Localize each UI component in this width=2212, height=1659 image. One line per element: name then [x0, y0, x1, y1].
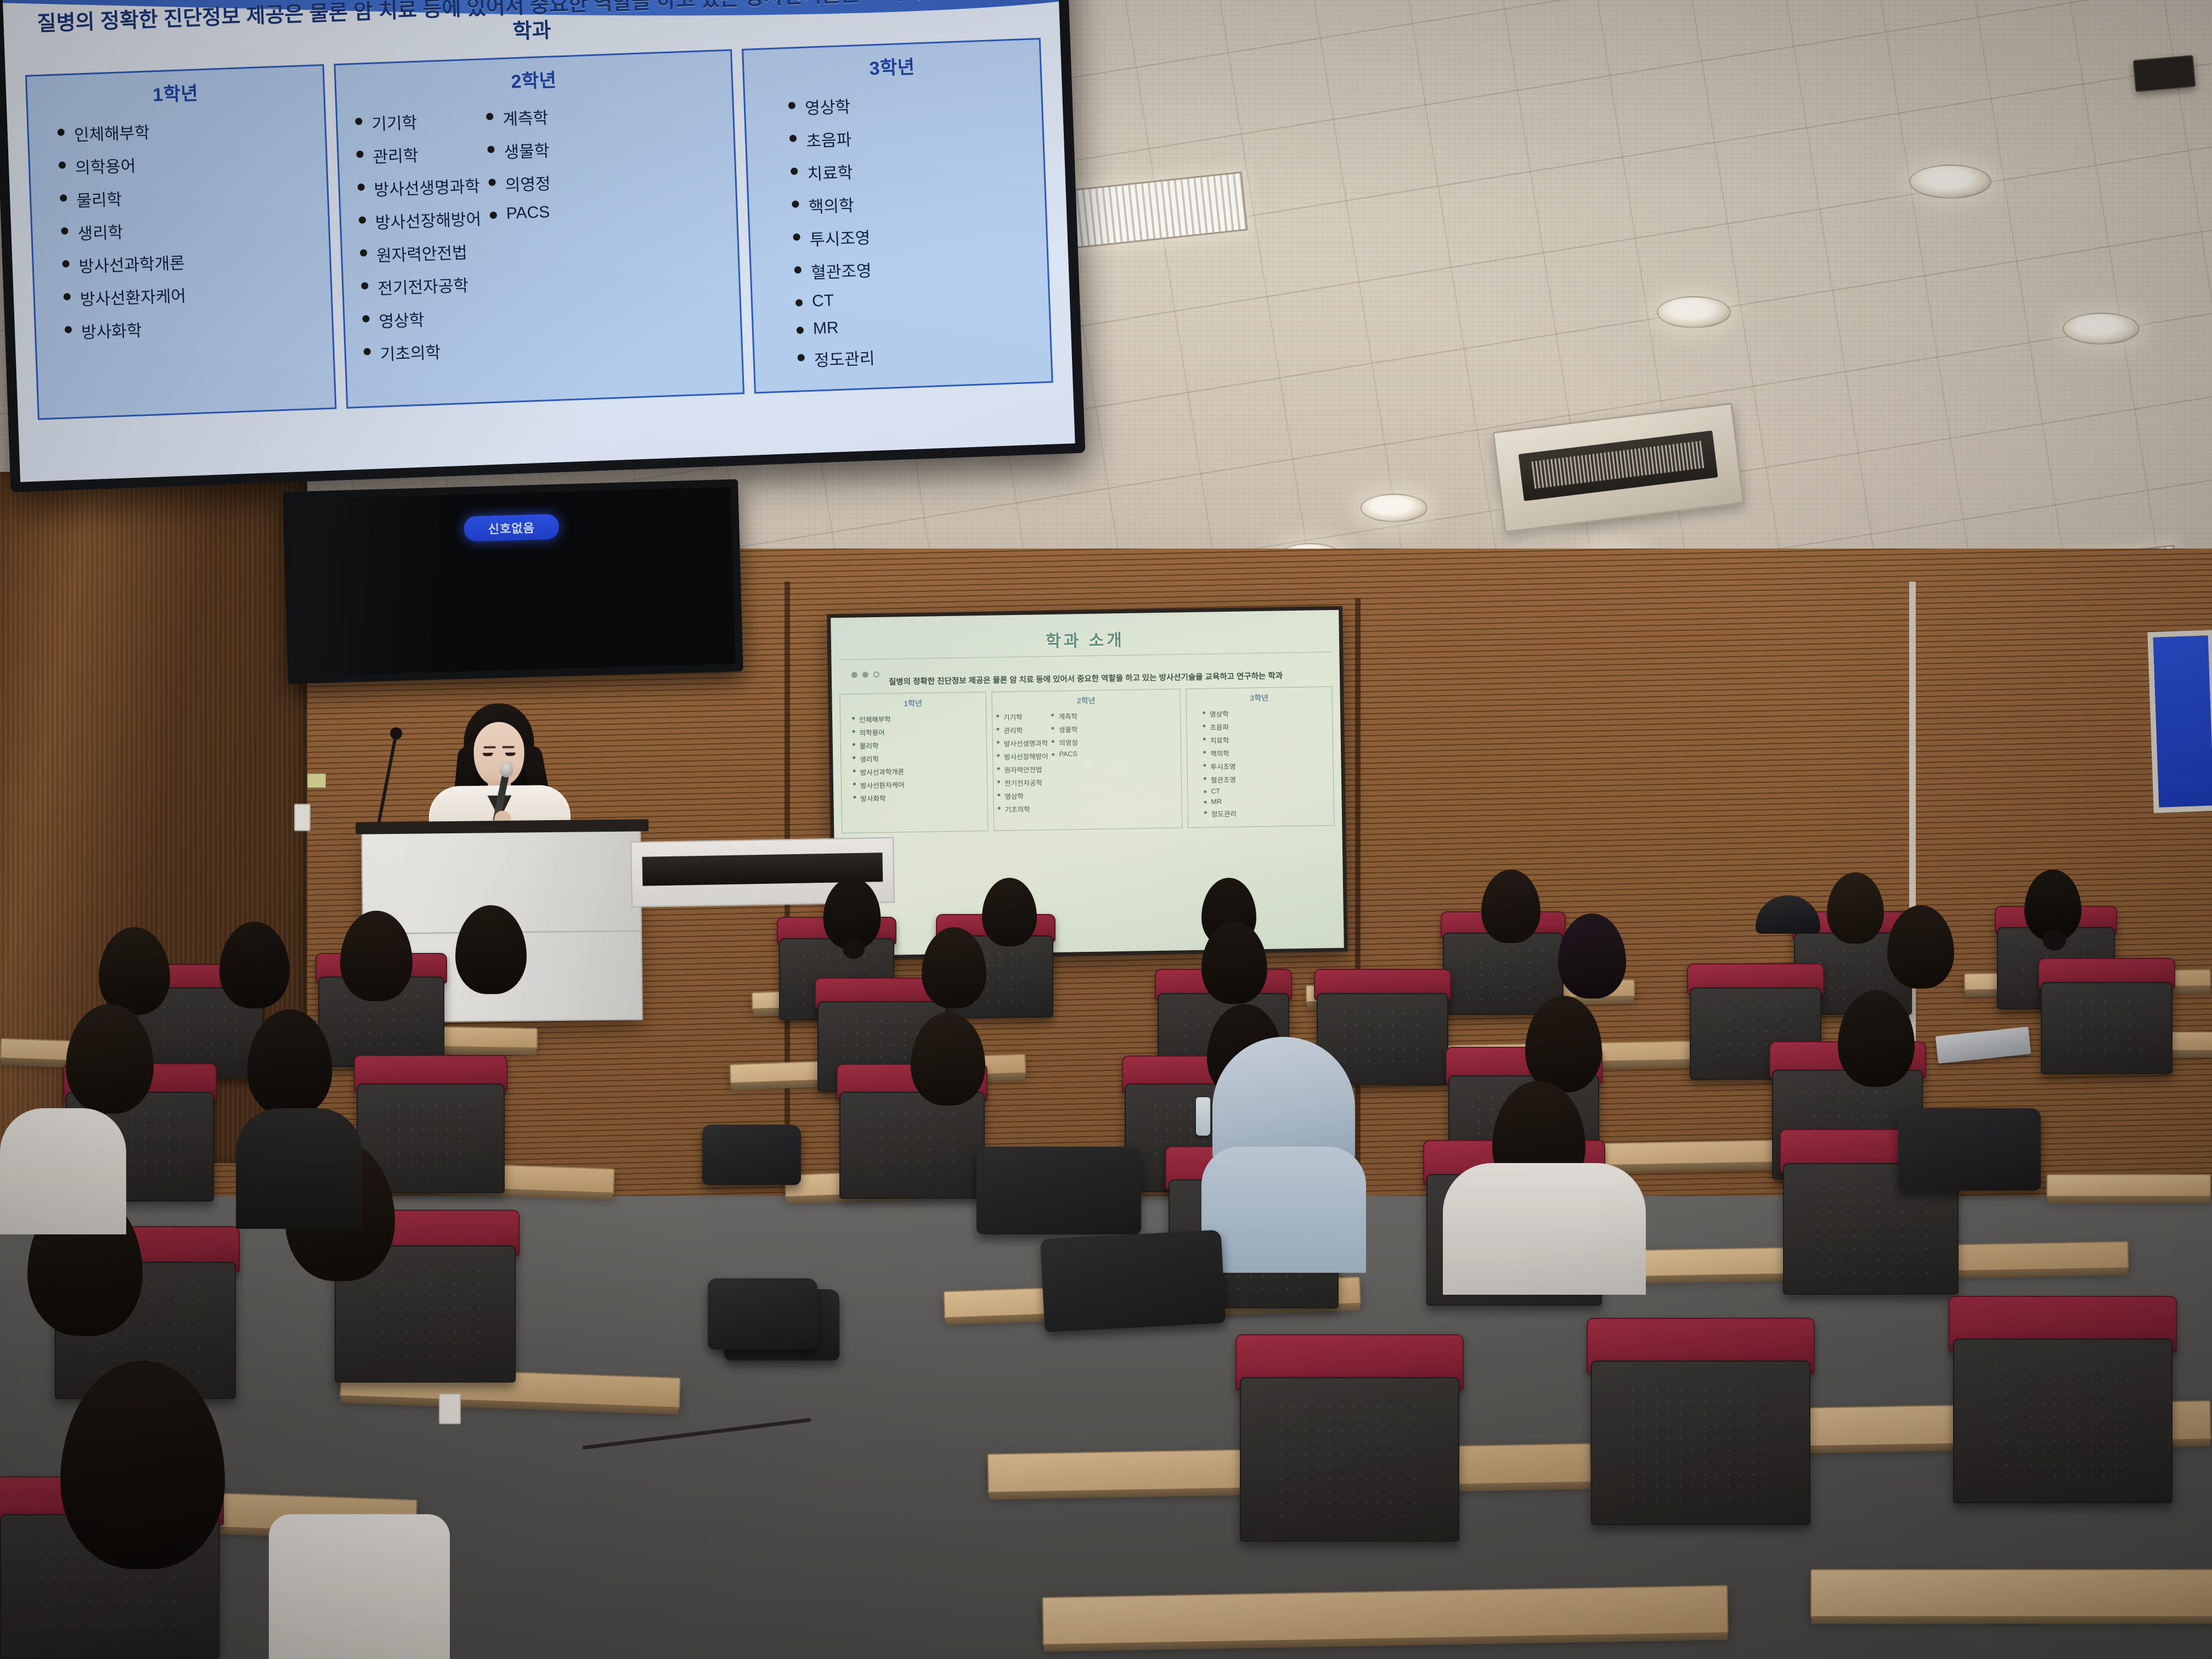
year-column-2: 2학년 기기학 관리학 방사선생명과학 방사선장해방어 원자력안전법 전기전자공…	[334, 49, 744, 408]
lecture-hall-photo: 질병의 정확한 진단정보 제공은 물론 암 치료 등에 있어서 중요한 역할을 …	[0, 0, 2212, 1659]
projected-year-column-2: 2학년 기기학 관리학 방사선생명과학 방사선장해방어 원자력안전법 전기전자공…	[991, 689, 1182, 831]
white-skirt	[269, 1514, 450, 1659]
projected-course-item: 전기전자공학	[996, 777, 1049, 788]
projected-course-item: 방사선장해방어	[995, 751, 1048, 762]
head	[60, 1361, 225, 1569]
course-item: MR	[792, 317, 874, 338]
head	[219, 922, 290, 1008]
chair[interactable]	[2041, 982, 2172, 1074]
projected-course-item: 의학용어	[850, 726, 904, 738]
podium-top-surface	[356, 819, 648, 834]
chair-back	[1591, 1361, 1810, 1525]
audience-member	[219, 922, 290, 1008]
projected-course-item: MR	[1202, 798, 1236, 806]
chair[interactable]	[1591, 1361, 1810, 1525]
audience-member-hoodie	[1201, 1037, 1366, 1267]
projected-course-item: 방사선생명과학	[995, 737, 1048, 749]
projected-year-column-1: 1학년 인체해부학 의학용어 물리학 생리학 방사선과학개론 방사선환자케어 방…	[839, 692, 988, 833]
slide-year-columns: 1학년 인체해부학 의학용어 물리학 생리학 방사선과학개론 방사선환자케어 방…	[25, 38, 1053, 420]
name-tag	[439, 1393, 461, 1424]
hair-bun	[843, 939, 865, 959]
course-item: 의영정	[484, 170, 551, 196]
course-item: 초음파	[785, 126, 867, 153]
course-item: 영상학	[358, 304, 486, 332]
slide-main: 질병의 정확한 진단정보 제공은 물론 암 치료 등에 있어서 중요한 역할을 …	[3, 0, 1075, 482]
audience-member	[1887, 905, 1954, 989]
downlight-icon	[1909, 165, 1991, 199]
floor-bag-icon	[708, 1278, 817, 1350]
projected-course-item: 영상학	[1201, 708, 1235, 719]
projected-column-title: 1학년	[843, 697, 984, 710]
projected-course-item: 투시조영	[1201, 761, 1235, 772]
audience-member	[1481, 870, 1541, 943]
course-item: PACS	[485, 203, 552, 224]
head	[823, 878, 881, 949]
wall-sign	[307, 774, 326, 788]
head	[455, 905, 527, 994]
projected-course-item: 인체해부학	[850, 713, 904, 725]
projected-course-item: 핵의학	[1201, 748, 1235, 759]
downlight-icon	[1361, 494, 1427, 522]
head	[922, 927, 986, 1008]
course-item: 투시조영	[788, 224, 871, 251]
course-item: 혈관조영	[789, 257, 872, 284]
course-item: 생리학	[57, 216, 184, 245]
course-item: 전기전자공학	[356, 271, 484, 300]
year-column-title: 3학년	[749, 47, 1035, 84]
audience-member	[1827, 872, 1884, 944]
screen-glare	[283, 479, 589, 684]
projected-year-columns: 1학년 인체해부학 의학용어 물리학 생리학 방사선과학개론 방사선환자케어 방…	[839, 686, 1334, 833]
course-list: 영상학 초음파 치료학 핵의학 투시조영 혈관조영 CT MR 정도관리	[783, 93, 875, 381]
year-column-3: 3학년 영상학 초음파 치료학 핵의학 투시조영 혈관조영 CT MR 정도관리	[742, 38, 1053, 394]
projected-course-item: 치료학	[1201, 735, 1235, 746]
audience-member	[1558, 913, 1626, 998]
audience-member	[2024, 870, 2081, 941]
projected-year-column-3: 3학년 영상학 초음파 치료학 핵의학 투시조영 혈관조영 CT MR	[1186, 686, 1334, 828]
head	[1838, 990, 1915, 1087]
head	[340, 911, 413, 1001]
course-item: 방사선환자케어	[59, 282, 187, 311]
projected-course-list-secondary: 계측학 생물학 의영정 PACS	[1049, 710, 1079, 816]
audience-member	[455, 905, 527, 994]
course-item: 계측학	[482, 104, 549, 131]
ceiling-speaker-icon	[2133, 55, 2196, 92]
course-item: 정도관리	[793, 345, 875, 371]
course-item: 영상학	[783, 93, 866, 120]
audience-member	[1525, 996, 1602, 1092]
black-top	[236, 1108, 362, 1229]
head	[1827, 872, 1884, 944]
projected-course-item: 생리학	[851, 753, 904, 764]
wall-monitor-main[interactable]: 질병의 정확한 진단정보 제공은 물론 암 치료 등에 있어서 중요한 역할을 …	[0, 0, 1085, 492]
downlight-icon	[2063, 313, 2140, 345]
projected-column-title: 3학년	[1188, 691, 1329, 704]
head	[982, 878, 1037, 946]
chair[interactable]	[839, 1092, 985, 1199]
audience-member	[99, 927, 170, 1015]
course-item: 인체해부학	[53, 117, 180, 146]
course-list: 기기학 관리학 방사선생명과학 방사선장해방어 원자력안전법 전기전자공학 영상…	[350, 106, 487, 374]
chair[interactable]	[1953, 1339, 2172, 1503]
projected-course-item: 기초의학	[996, 803, 1049, 815]
head	[1525, 996, 1602, 1092]
course-item: 의학용어	[54, 150, 182, 179]
projected-slide-body: 질병의 정확한 진단정보 제공은 물론 암 치료 등에 있어서 중요한 역할을 …	[839, 652, 1334, 833]
course-item: 방사선생명과학	[353, 172, 481, 201]
projected-course-item: 초음파	[1201, 721, 1235, 732]
course-item: CT	[791, 290, 873, 311]
audience-member	[922, 927, 986, 1008]
backpack-icon	[1898, 1108, 2041, 1190]
chair-back	[1953, 1339, 2172, 1503]
projected-course-item: 방사선환자케어	[851, 779, 905, 791]
audience-member	[982, 878, 1037, 946]
backpack-icon	[977, 1147, 1141, 1234]
wall-monitor-right-edge[interactable]	[2147, 630, 2212, 813]
head	[1481, 870, 1541, 943]
course-item: 물리학	[55, 183, 183, 212]
desk	[1810, 1569, 2212, 1618]
head	[911, 1012, 985, 1105]
course-list-secondary: 계측학 생물학 의영정 PACS	[482, 104, 557, 370]
desk	[2046, 1174, 2211, 1198]
presenter-face	[473, 722, 524, 786]
projected-course-item: 혈관조영	[1202, 774, 1236, 785]
audience-member	[247, 1009, 332, 1116]
projected-course-item: 생물학	[1050, 724, 1078, 735]
audience-member	[340, 911, 413, 1001]
year-column-1: 1학년 인체해부학 의학용어 물리학 생리학 방사선과학개론 방사선환자케어 방…	[25, 64, 336, 420]
projected-slide-title: 학과 소개	[831, 623, 1340, 656]
course-item: 치료학	[786, 158, 868, 185]
light-grey-shirt	[1443, 1163, 1646, 1295]
projected-course-item: PACS	[1051, 750, 1079, 758]
projected-course-item: 계측학	[1049, 710, 1077, 721]
chair-back	[2041, 982, 2172, 1074]
no-signal-badge: 신호없음	[464, 514, 559, 542]
head	[1887, 905, 1954, 989]
backpack-icon	[1040, 1229, 1226, 1332]
projected-course-list: 영상학 초음파 치료학 핵의학 투시조영 혈관조영 CT MR 정도관리	[1201, 708, 1237, 822]
projected-course-item: 기기학	[995, 711, 1048, 723]
head	[1558, 913, 1626, 998]
chair[interactable]	[1240, 1377, 1459, 1542]
year-column-title: 1학년	[32, 74, 318, 111]
head	[1201, 922, 1267, 1004]
projected-course-list: 인체해부학 의학용어 물리학 생리학 방사선과학개론 방사선환자케어 방사화학	[850, 713, 905, 806]
projected-course-item: 의영정	[1050, 737, 1078, 748]
projected-course-item: 영상학	[996, 790, 1049, 802]
projected-course-item: 물리학	[851, 740, 904, 751]
audience-member	[1201, 922, 1267, 1004]
audience-member	[60, 1361, 225, 1569]
projected-course-item: 방사화학	[851, 792, 905, 804]
progress-dot	[873, 672, 879, 678]
projected-course-item: 관리학	[995, 724, 1048, 736]
hair-bun	[2043, 930, 2066, 951]
eye	[505, 753, 516, 756]
eyebrow	[503, 746, 515, 748]
audience-member	[823, 878, 881, 949]
head	[247, 1009, 332, 1116]
progress-dot	[851, 672, 857, 678]
wall-outlet-icon	[294, 804, 311, 831]
projected-course-list: 기기학 관리학 방사선생명과학 방사선장해방어 원자력안전법 전기전자공학 영상…	[995, 711, 1049, 817]
progress-dot	[862, 672, 868, 678]
course-item: 핵의학	[787, 191, 870, 218]
backpack-icon	[702, 1125, 801, 1185]
hoodie-body	[1201, 1147, 1366, 1273]
course-item: 방사선과학개론	[58, 249, 185, 278]
chair-back	[1240, 1377, 1459, 1542]
projected-course-item: 원자력안전법	[995, 764, 1048, 775]
projected-slide: 학과 소개 질병의 정확한 진단정보 제공은 물론 암 치료 등에 있어서 중요…	[831, 610, 1344, 956]
course-item: 방사화학	[60, 315, 188, 343]
projected-course-item: CT	[1202, 787, 1236, 795]
projection-screen: 학과 소개 질병의 정확한 진단정보 제공은 물론 암 치료 등에 있어서 중요…	[827, 606, 1348, 960]
audience-member	[911, 1012, 985, 1105]
wall-monitor-secondary[interactable]: 신호없음	[283, 479, 743, 684]
head	[66, 1004, 154, 1114]
audience-member	[66, 1004, 154, 1114]
head	[99, 927, 170, 1015]
course-item: 생물학	[483, 137, 550, 163]
projected-course-item: 정도관리	[1203, 808, 1237, 819]
course-item: 방사선장해방어	[354, 205, 482, 234]
course-item: 기초의학	[359, 337, 487, 365]
year-column-title: 2학년	[341, 59, 726, 100]
course-list: 인체해부학 의학용어 물리학 생리학 방사선과학개론 방사선환자케어 방사화학	[53, 117, 188, 352]
projected-column-title: 2학년	[994, 694, 1177, 708]
course-item: 관리학	[352, 139, 479, 168]
screen-blue-fill	[2153, 635, 2212, 807]
course-item: 원자력안전법	[355, 238, 483, 267]
audience-member	[1838, 990, 1915, 1087]
eyebrow	[484, 746, 496, 748]
eye	[483, 753, 493, 756]
white-top	[0, 1108, 126, 1234]
downlight-icon	[1657, 296, 1731, 328]
projected-course-item: 방사선과학개론	[851, 766, 904, 777]
chair-back	[839, 1092, 985, 1199]
course-item: 기기학	[350, 106, 478, 135]
